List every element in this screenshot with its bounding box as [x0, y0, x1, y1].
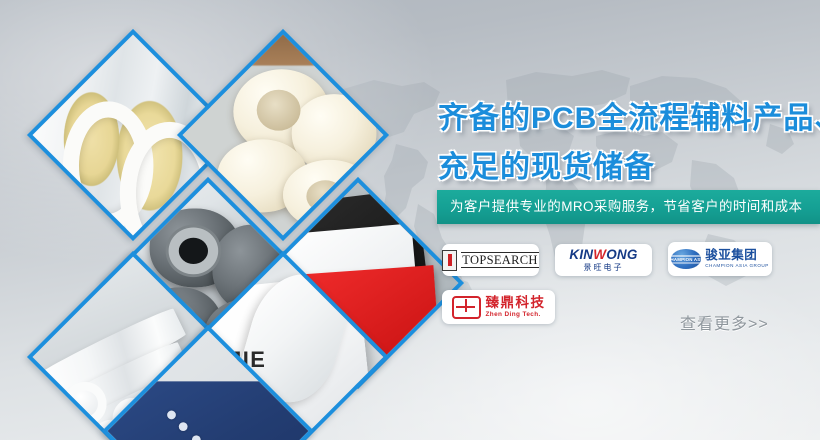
headline-line-1: 齐备的PCB全流程辅料产品、	[438, 93, 820, 137]
subtitle-text: 为客户提供专业的MRO采购服务，节省客户的时间和成本	[437, 190, 820, 224]
topsearch-mark-icon	[442, 250, 457, 271]
kinwong-wordmark: KINWONG	[569, 248, 637, 262]
logo-champion-asia[interactable]: CHAMPION ASIA 骏亚集团 CHAMPION ASIA GROUP	[668, 242, 772, 276]
zhen-ding-chinese: 臻鼎科技	[486, 296, 546, 310]
champion-asia-chinese: 骏亚集团	[705, 249, 769, 262]
headline-line-2: 充足的现货储备	[438, 142, 655, 186]
subtitle-bar: 为客户提供专业的MRO采购服务，节省客户的时间和成本	[437, 190, 820, 224]
kinwong-word-accent: W	[593, 247, 606, 262]
kinwong-chinese: 景旺电子	[569, 264, 637, 272]
champion-asia-english: CHAMPION ASIA GROUP	[705, 264, 769, 269]
zhen-ding-mark-icon	[452, 296, 481, 319]
logo-zhen-ding[interactable]: 臻鼎科技 Zhen Ding Tech.	[442, 290, 555, 324]
product-collage: JIE	[0, 0, 430, 440]
globe-icon: CHAMPION ASIA	[671, 249, 701, 269]
logo-topsearch[interactable]: TOPSEARCH	[442, 244, 539, 276]
zhen-ding-english: Zhen Ding Tech.	[486, 312, 546, 318]
banner-content: 齐备的PCB全流程辅料产品、 充足的现货储备 为客户提供专业的MRO采购服务，节…	[430, 0, 820, 440]
topsearch-wordmark: TOPSEARCH	[461, 252, 538, 268]
view-more-link[interactable]: 查看更多>>	[680, 310, 769, 334]
promo-banner: JIE 齐备的PCB全流程辅料产品、 充足的现货储备 为客户提供专业的MRO采购…	[0, 0, 820, 440]
kinwong-word-part2: ONG	[606, 247, 637, 262]
kinwong-word-part1: KIN	[569, 247, 593, 262]
globe-label: CHAMPION ASIA	[671, 257, 701, 262]
logo-kinwong[interactable]: KINWONG 景旺电子	[555, 244, 652, 276]
